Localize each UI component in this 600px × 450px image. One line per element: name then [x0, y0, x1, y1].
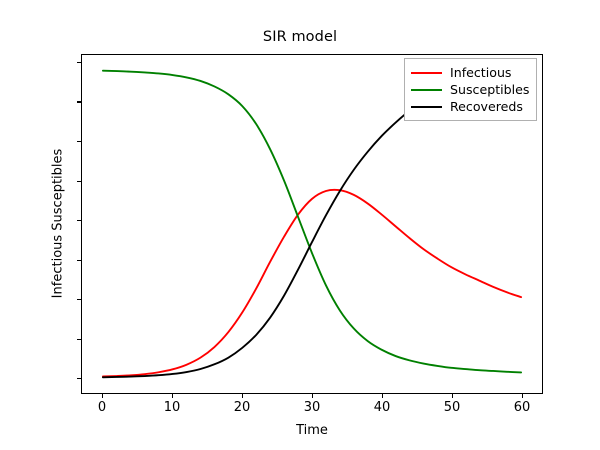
page-title: SIR model [0, 29, 600, 45]
y-axis-label: Infectious Susceptibles [51, 94, 66, 354]
x-tick-label: 30 [304, 400, 321, 415]
x-tick-mark [452, 394, 453, 398]
legend-swatch-icon [411, 89, 442, 91]
x-tick-label: 50 [444, 400, 461, 415]
x-tick-mark [102, 394, 103, 398]
x-tick-label: 40 [374, 400, 391, 415]
legend-item: Recovereds [411, 98, 529, 115]
legend-swatch-icon [411, 72, 442, 74]
x-tick-mark [522, 394, 523, 398]
x-tick-mark [242, 394, 243, 398]
x-tick-label: 20 [234, 400, 251, 415]
legend-swatch-icon [411, 106, 442, 108]
legend-label: Recovereds [450, 99, 523, 114]
legend-label: Susceptibles [450, 82, 529, 97]
series-line-infectious [103, 190, 521, 377]
legend-label: Infectious [450, 65, 512, 80]
x-tick-label: 60 [514, 400, 531, 415]
x-tick-mark [382, 394, 383, 398]
x-tick-mark [172, 394, 173, 398]
legend-item: Susceptibles [411, 81, 529, 98]
x-tick-mark [312, 394, 313, 398]
legend: InfectiousSusceptiblesRecovereds [404, 58, 537, 121]
x-tick-label: 10 [164, 400, 181, 415]
legend-item: Infectious [411, 64, 529, 81]
x-tick-label: 0 [98, 400, 106, 415]
x-axis-label: Time [81, 423, 543, 438]
matplotlib-figure: SIR model Infectious Susceptibles Time 0… [0, 0, 600, 450]
